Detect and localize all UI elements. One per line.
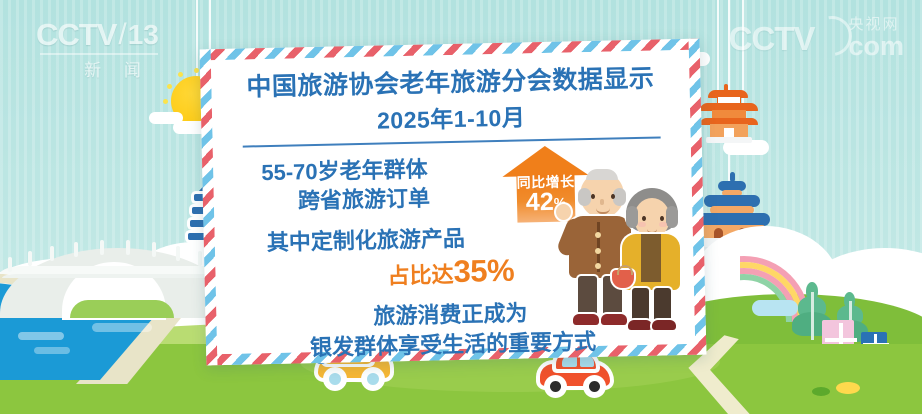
channel-logo: CCTV / 13 新 闻 <box>36 16 176 78</box>
man-shoe <box>573 314 599 325</box>
channel-name: 新 闻 <box>36 56 176 81</box>
man-eye <box>591 194 595 199</box>
woman-leg <box>632 288 649 324</box>
badge-number: 42 <box>526 188 554 217</box>
woman-shoe <box>628 320 652 330</box>
card-subtitle: 2025年1-10月 <box>236 95 667 138</box>
watermark-brand: CCTV <box>729 20 815 58</box>
channel-logo-text: CCTV <box>36 17 116 53</box>
site-watermark: CCTV 央视网 com <box>729 16 904 58</box>
water-highlight <box>18 332 64 340</box>
bush <box>812 387 830 396</box>
button <box>595 232 601 238</box>
man-shoe <box>601 314 627 325</box>
man-hair <box>586 169 618 180</box>
hanging-string <box>717 0 719 96</box>
watermark-domain: com <box>848 34 904 58</box>
woman-blush <box>638 222 646 227</box>
stat-line-4-prefix: 占比达 <box>387 262 454 288</box>
woman-hair <box>626 206 638 228</box>
woman-shoe <box>652 320 676 330</box>
woman-blush <box>659 222 667 227</box>
handbag-handle <box>617 265 633 275</box>
man-hair <box>578 188 591 206</box>
title-divider <box>243 136 661 147</box>
woman-eye <box>660 216 664 221</box>
water-highlight <box>34 347 70 354</box>
button <box>595 248 601 254</box>
woman-hair <box>666 206 678 228</box>
woman-leg <box>654 288 671 324</box>
channel-logo-slash: / <box>118 18 126 52</box>
man-nose <box>600 199 604 205</box>
elderly-couple-illustration <box>556 168 680 328</box>
stat-line-4-value: 35% <box>453 252 514 288</box>
channel-number: 13 <box>128 19 159 51</box>
pagoda-icon <box>700 84 762 150</box>
logo-underline <box>40 53 158 55</box>
water-highlight <box>92 323 152 332</box>
arch-bridge-icon <box>0 240 236 318</box>
woman-inner-top <box>641 234 661 282</box>
woman-eye <box>642 216 646 221</box>
broadcast-graphic-stage: 中国旅游协会老年旅游分会数据显示 2025年1-10月 55-70岁老年群体 跨… <box>0 0 922 414</box>
raised-hand <box>556 204 571 220</box>
flower-patch <box>836 382 860 394</box>
car-icon <box>540 352 610 394</box>
button <box>595 263 601 269</box>
man-eye <box>611 194 615 199</box>
man-leg <box>578 276 597 318</box>
